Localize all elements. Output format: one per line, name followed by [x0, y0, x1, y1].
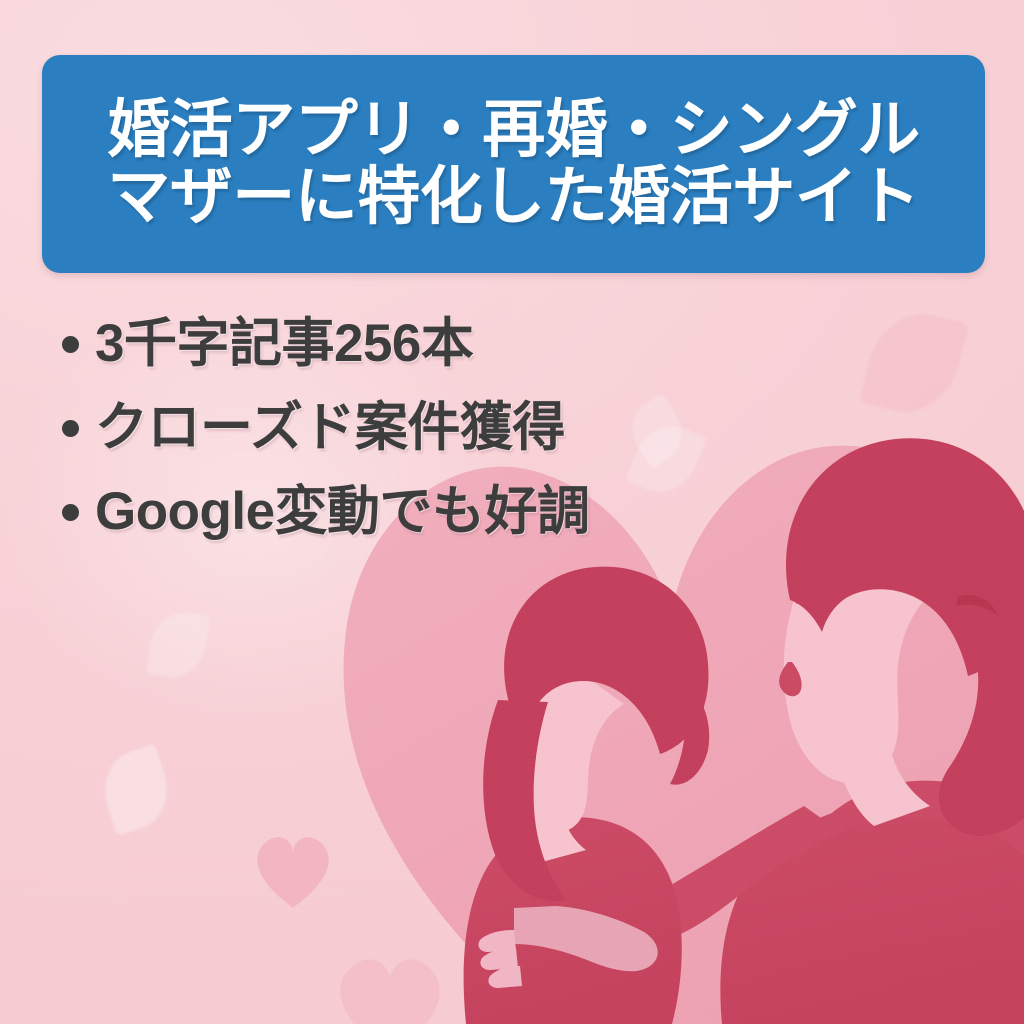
bullet-dot-icon [62, 336, 79, 353]
title-line-2: マザーに特化した婚活サイト [107, 166, 920, 229]
bullet-label: クローズド案件獲得 [95, 400, 565, 456]
list-item: Google変動でも好調 [62, 470, 702, 554]
list-item: 3千字記事256本 [62, 302, 702, 386]
bullet-dot-icon [62, 504, 79, 521]
list-item: クローズド案件獲得 [62, 386, 702, 470]
bullet-dot-icon [62, 420, 79, 437]
poster-canvas: 婚活アプリ・再婚・シングル マザーに特化した婚活サイト 3千字記事256本 クロ… [0, 0, 1024, 1024]
bullet-label: 3千字記事256本 [95, 316, 473, 372]
title-line-1: 婚活アプリ・再婚・シングル [107, 99, 920, 162]
bullet-label: Google変動でも好調 [95, 484, 590, 540]
feature-bullet-list: 3千字記事256本 クローズド案件獲得 Google変動でも好調 [62, 302, 702, 554]
title-banner: 婚活アプリ・再婚・シングル マザーに特化した婚活サイト [42, 55, 985, 273]
